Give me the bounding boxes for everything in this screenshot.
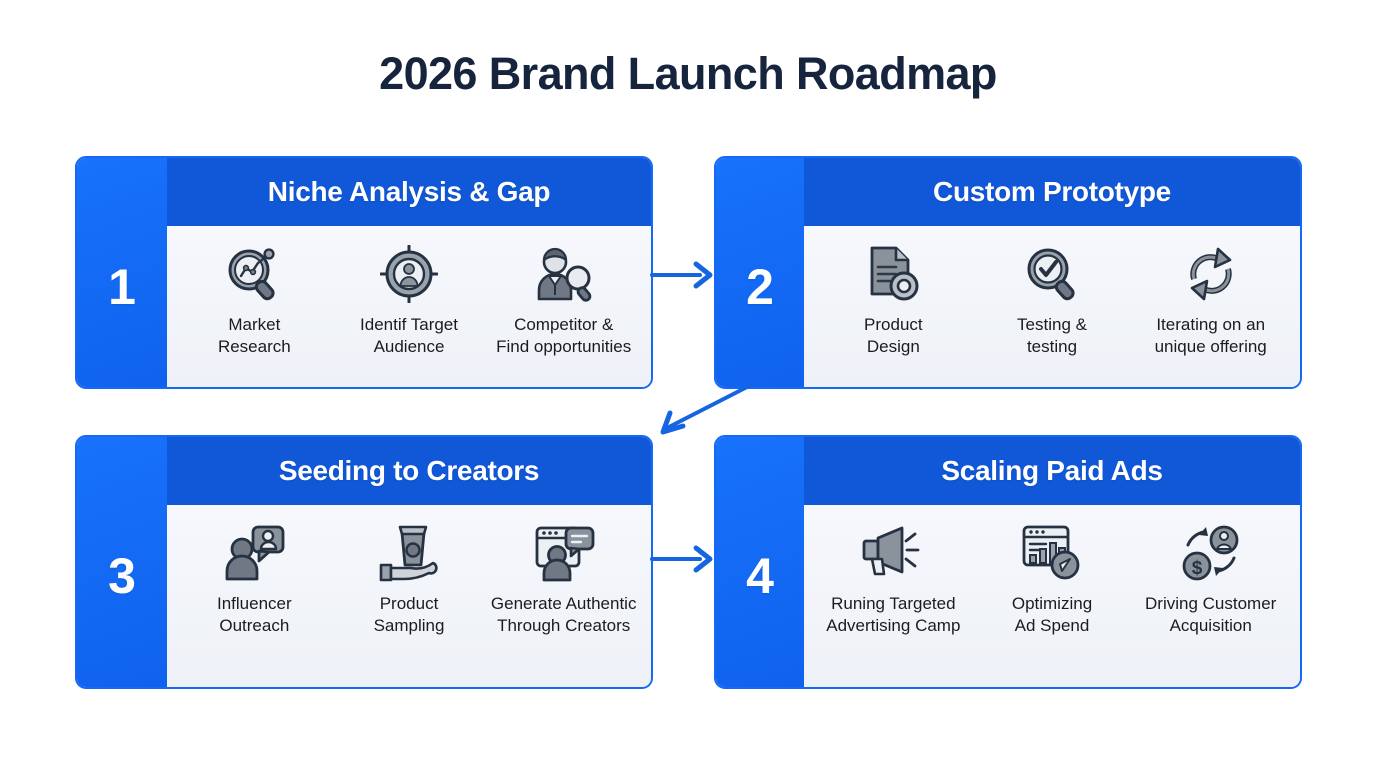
step-card-1[interactable]: 1 Niche Analysis & Gap: [75, 156, 653, 389]
step-number-strip-4: 4: [716, 437, 804, 687]
step-card-4[interactable]: 4 Scaling Paid Ads: [714, 435, 1302, 689]
feature-product-sampling[interactable]: Product Sampling: [332, 521, 487, 637]
step-title-1: Niche Analysis & Gap: [268, 176, 550, 208]
feature-optimizing-ad-spend[interactable]: Optimizing Ad Spend: [973, 521, 1132, 637]
step-card-3[interactable]: 3 Seeding to Creators: [75, 435, 653, 689]
step-body-4: Runing Targeted Advertising Camp: [804, 505, 1300, 687]
person-money-cycle-icon: $: [1180, 521, 1242, 585]
step-number-strip-3: 3: [77, 437, 167, 687]
hand-product-bag-icon: [378, 521, 440, 585]
arrow-step3-to-step4: [650, 542, 718, 576]
step-card-2[interactable]: 2 Custom Prototype: [714, 156, 1302, 389]
feature-influencer-outreach[interactable]: Influencer Outreach: [177, 521, 332, 637]
step-title-2: Custom Prototype: [933, 176, 1171, 208]
feature-running-targeted-ads[interactable]: Runing Targeted Advertising Camp: [814, 521, 973, 637]
magnifier-chart-icon: [223, 242, 285, 306]
feature-label: Product Design: [864, 314, 923, 358]
feature-competitor-opportunities[interactable]: Competitor & Find opportunities: [486, 242, 641, 358]
step-card-main-3: Seeding to Creators Influenc: [167, 437, 651, 687]
step-card-main-4: Scaling Paid Ads Runing Targ: [804, 437, 1300, 687]
arrow-step2-to-step3: [645, 382, 755, 438]
feature-label: Testing & testing: [1017, 314, 1087, 358]
arrow-step1-to-step2: [650, 258, 718, 292]
step-number-1: 1: [108, 262, 136, 312]
feature-label: Optimizing Ad Spend: [1012, 593, 1092, 637]
refresh-cycle-icon: [1182, 242, 1240, 306]
megaphone-icon: [861, 521, 925, 585]
step-header-1: Niche Analysis & Gap: [167, 158, 651, 226]
feature-label: Driving Customer Acquisition: [1145, 593, 1276, 637]
step-card-main-1: Niche Analysis & Gap: [167, 158, 651, 387]
step-number-strip-1: 1: [77, 158, 167, 387]
step-header-3: Seeding to Creators: [167, 437, 651, 505]
feature-label: Runing Targeted Advertising Camp: [826, 593, 960, 637]
feature-market-research[interactable]: Market Research: [177, 242, 332, 358]
document-lens-icon: [864, 242, 922, 306]
target-person-icon: [380, 242, 438, 306]
step-number-4: 4: [746, 551, 774, 601]
step-number-strip-2: 2: [716, 158, 804, 387]
feature-label: Generate Authentic Through Creators: [491, 593, 637, 637]
feature-label: Influencer Outreach: [217, 593, 292, 637]
feature-testing[interactable]: Testing & testing: [973, 242, 1132, 358]
feature-driving-customer-acquisition[interactable]: $ Driving Customer Acquisition: [1131, 521, 1290, 637]
step-title-4: Scaling Paid Ads: [941, 455, 1162, 487]
step-number-3: 3: [108, 551, 136, 601]
svg-text:$: $: [1191, 558, 1202, 579]
person-speech-bubble-icon: [223, 521, 285, 585]
feature-generate-authentic-creators[interactable]: Generate Authentic Through Creators: [486, 521, 641, 637]
dashboard-compass-icon: [1021, 521, 1083, 585]
feature-label: Iterating on an unique offering: [1155, 314, 1267, 358]
roadmap-infographic: 2026 Brand Launch Roadmap 1 Niche Analys…: [0, 0, 1376, 768]
feature-label: Product Sampling: [374, 593, 445, 637]
feature-label: Competitor & Find opportunities: [496, 314, 631, 358]
step-number-2: 2: [746, 262, 774, 312]
step-body-1: Market Research: [167, 226, 651, 387]
step-card-main-2: Custom Prototype: [804, 158, 1300, 387]
feature-label: Identif Target Audience: [360, 314, 458, 358]
step-title-3: Seeding to Creators: [279, 455, 539, 487]
browser-person-chat-icon: [533, 521, 595, 585]
step-body-2: Product Design Testing & testing: [804, 226, 1300, 387]
feature-label: Market Research: [218, 314, 291, 358]
page-title: 2026 Brand Launch Roadmap: [0, 48, 1376, 100]
step-header-4: Scaling Paid Ads: [804, 437, 1300, 505]
feature-product-design[interactable]: Product Design: [814, 242, 973, 358]
businessman-magnifier-icon: [533, 242, 595, 306]
step-header-2: Custom Prototype: [804, 158, 1300, 226]
feature-identify-target-audience[interactable]: Identif Target Audience: [332, 242, 487, 358]
feature-iterating-offering[interactable]: Iterating on an unique offering: [1131, 242, 1290, 358]
magnifier-check-icon: [1023, 242, 1081, 306]
step-body-3: Influencer Outreach Product Sampling: [167, 505, 651, 687]
